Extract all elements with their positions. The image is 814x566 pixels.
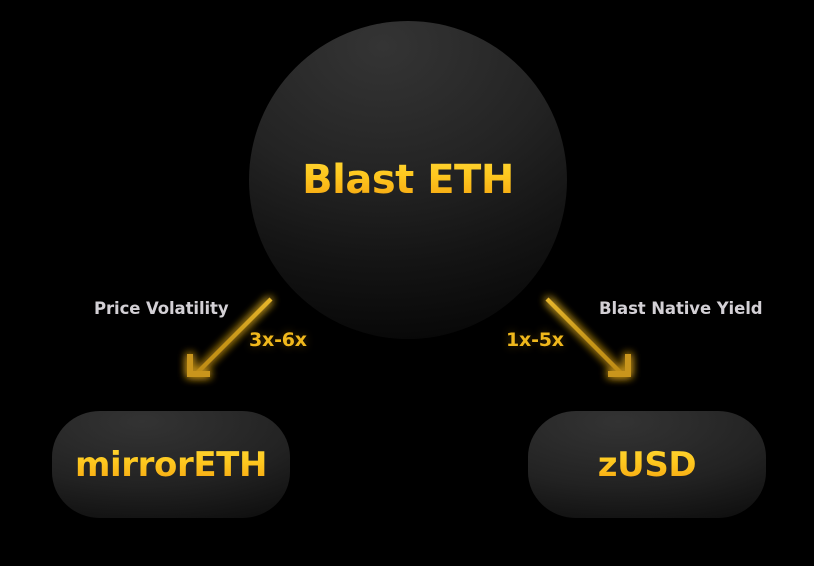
edge-label-blast-native-yield: Blast Native Yield [599,299,762,318]
node-mirroreth-label: mirrorETH [75,445,267,485]
node-blast-eth-label: Blast ETH [302,157,514,203]
node-zusd[interactable]: zUSD [528,411,766,518]
edge-multiplier-price-volatility: 3x-6x [249,329,307,351]
node-mirroreth[interactable]: mirrorETH [52,411,290,518]
diagram-canvas: Blast ETH [0,0,814,566]
node-zusd-label: zUSD [598,445,697,485]
edge-label-price-volatility: Price Volatility [94,299,229,318]
node-blast-eth[interactable]: Blast ETH [249,21,567,339]
edge-multiplier-blast-native-yield: 1x-5x [506,329,564,351]
